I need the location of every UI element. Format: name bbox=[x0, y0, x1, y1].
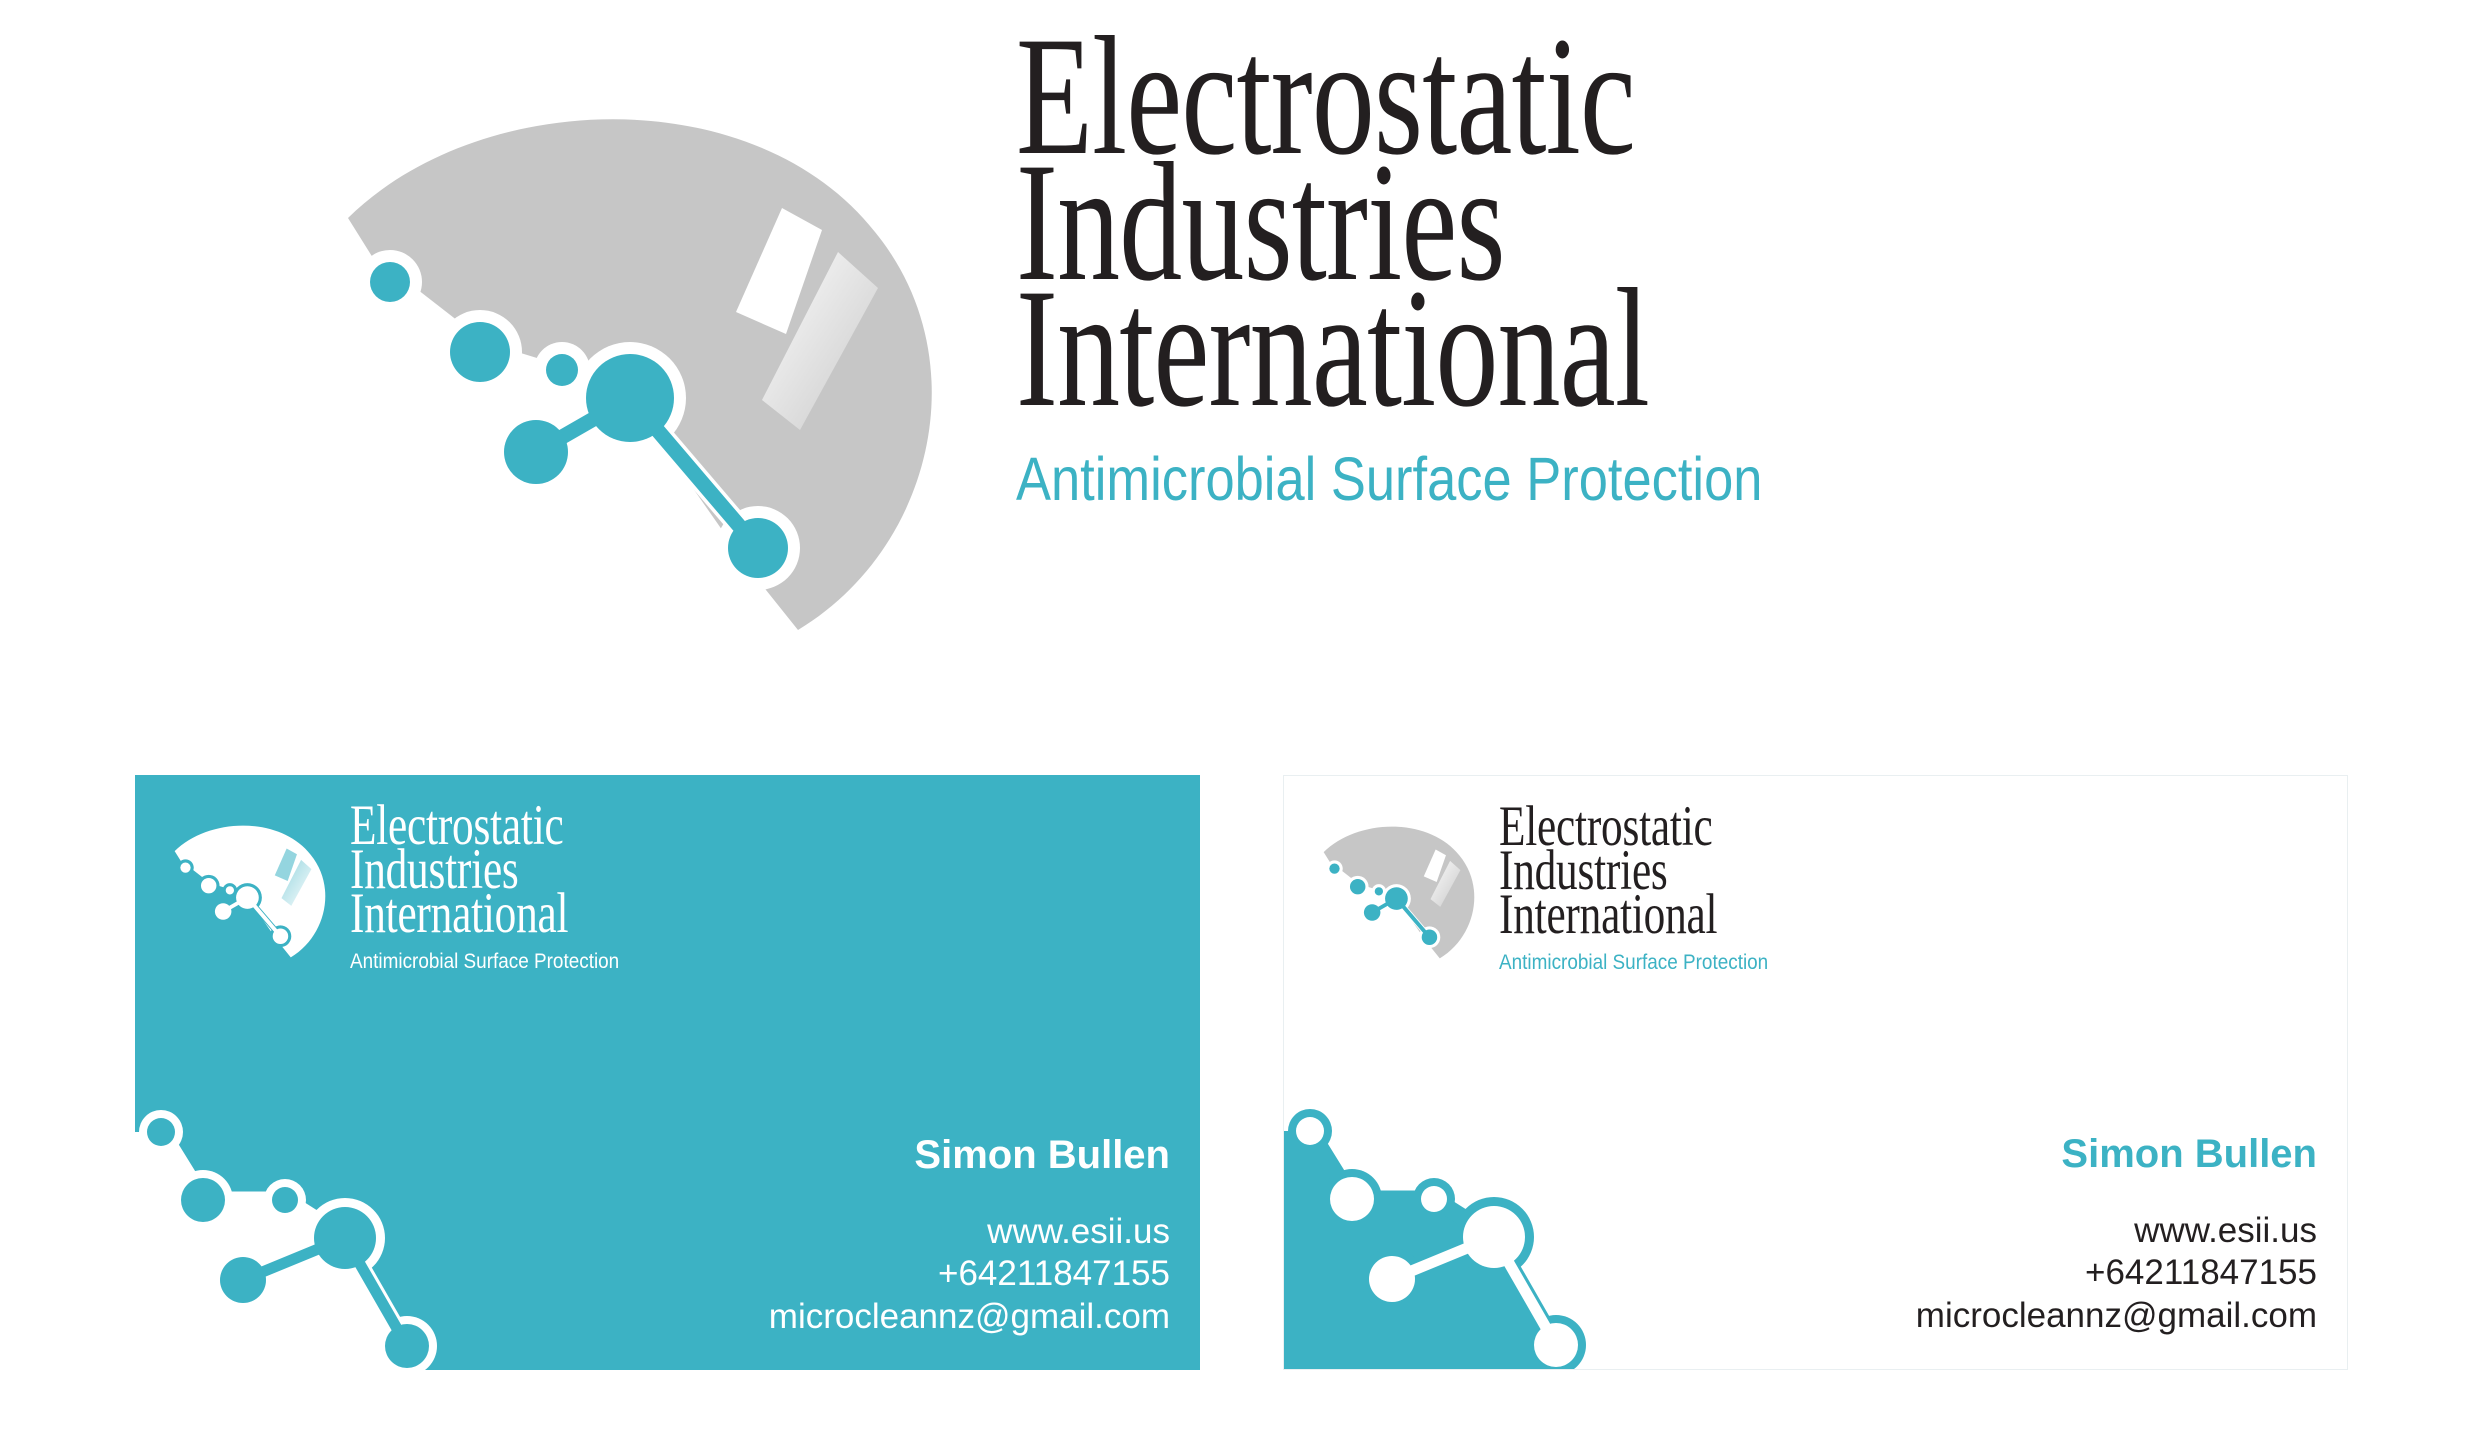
contact-name: Simon Bullen bbox=[769, 1135, 1170, 1175]
header-logo-icon bbox=[330, 100, 950, 680]
contact-phone[interactable]: +64211847155 bbox=[1916, 1252, 2317, 1294]
dome-molecule-logo-icon bbox=[170, 808, 330, 983]
card-brand-line-3: International bbox=[350, 892, 669, 936]
card-logo-teal: Electrostatic Industries International A… bbox=[170, 808, 760, 1013]
molecule-corner-icon bbox=[135, 1110, 465, 1370]
header-text-block: Electrostatic Industries International A… bbox=[1016, 34, 2236, 510]
card-logo-white: Electrostatic Industries International A… bbox=[1319, 809, 1909, 1014]
contact-block-teal: Simon Bullen www.esii.us +64211847155 mi… bbox=[769, 1135, 1170, 1338]
card-tagline: Antimicrobial Surface Protection bbox=[350, 951, 720, 973]
contact-email[interactable]: microcleannz@gmail.com bbox=[1916, 1295, 2317, 1337]
brand-line-3: International bbox=[1016, 286, 1919, 412]
card-tagline: Antimicrobial Surface Protection bbox=[1499, 952, 1869, 974]
contact-email[interactable]: microcleannz@gmail.com bbox=[769, 1296, 1170, 1338]
business-card-white[interactable]: Electrostatic Industries International A… bbox=[1283, 775, 2348, 1370]
header-tagline: Antimicrobial Surface Protection bbox=[1016, 449, 2065, 510]
card-brand-line-3: International bbox=[1499, 893, 1818, 937]
card-logo-text-white: Electrostatic Industries International A… bbox=[1499, 805, 1919, 973]
business-cards-row: Electrostatic Industries International A… bbox=[0, 775, 2481, 1375]
contact-phone[interactable]: +64211847155 bbox=[769, 1253, 1170, 1295]
card-logo-text-teal: Electrostatic Industries International A… bbox=[350, 804, 770, 972]
contact-website[interactable]: www.esii.us bbox=[769, 1211, 1170, 1253]
contact-name: Simon Bullen bbox=[1916, 1134, 2317, 1174]
contact-website[interactable]: www.esii.us bbox=[1916, 1210, 2317, 1252]
contact-block-white: Simon Bullen www.esii.us +64211847155 mi… bbox=[1916, 1134, 2317, 1337]
molecule-corner-icon bbox=[1284, 1109, 1614, 1369]
dome-molecule-logo-icon bbox=[1319, 809, 1479, 984]
business-card-teal[interactable]: Electrostatic Industries International A… bbox=[135, 775, 1200, 1370]
